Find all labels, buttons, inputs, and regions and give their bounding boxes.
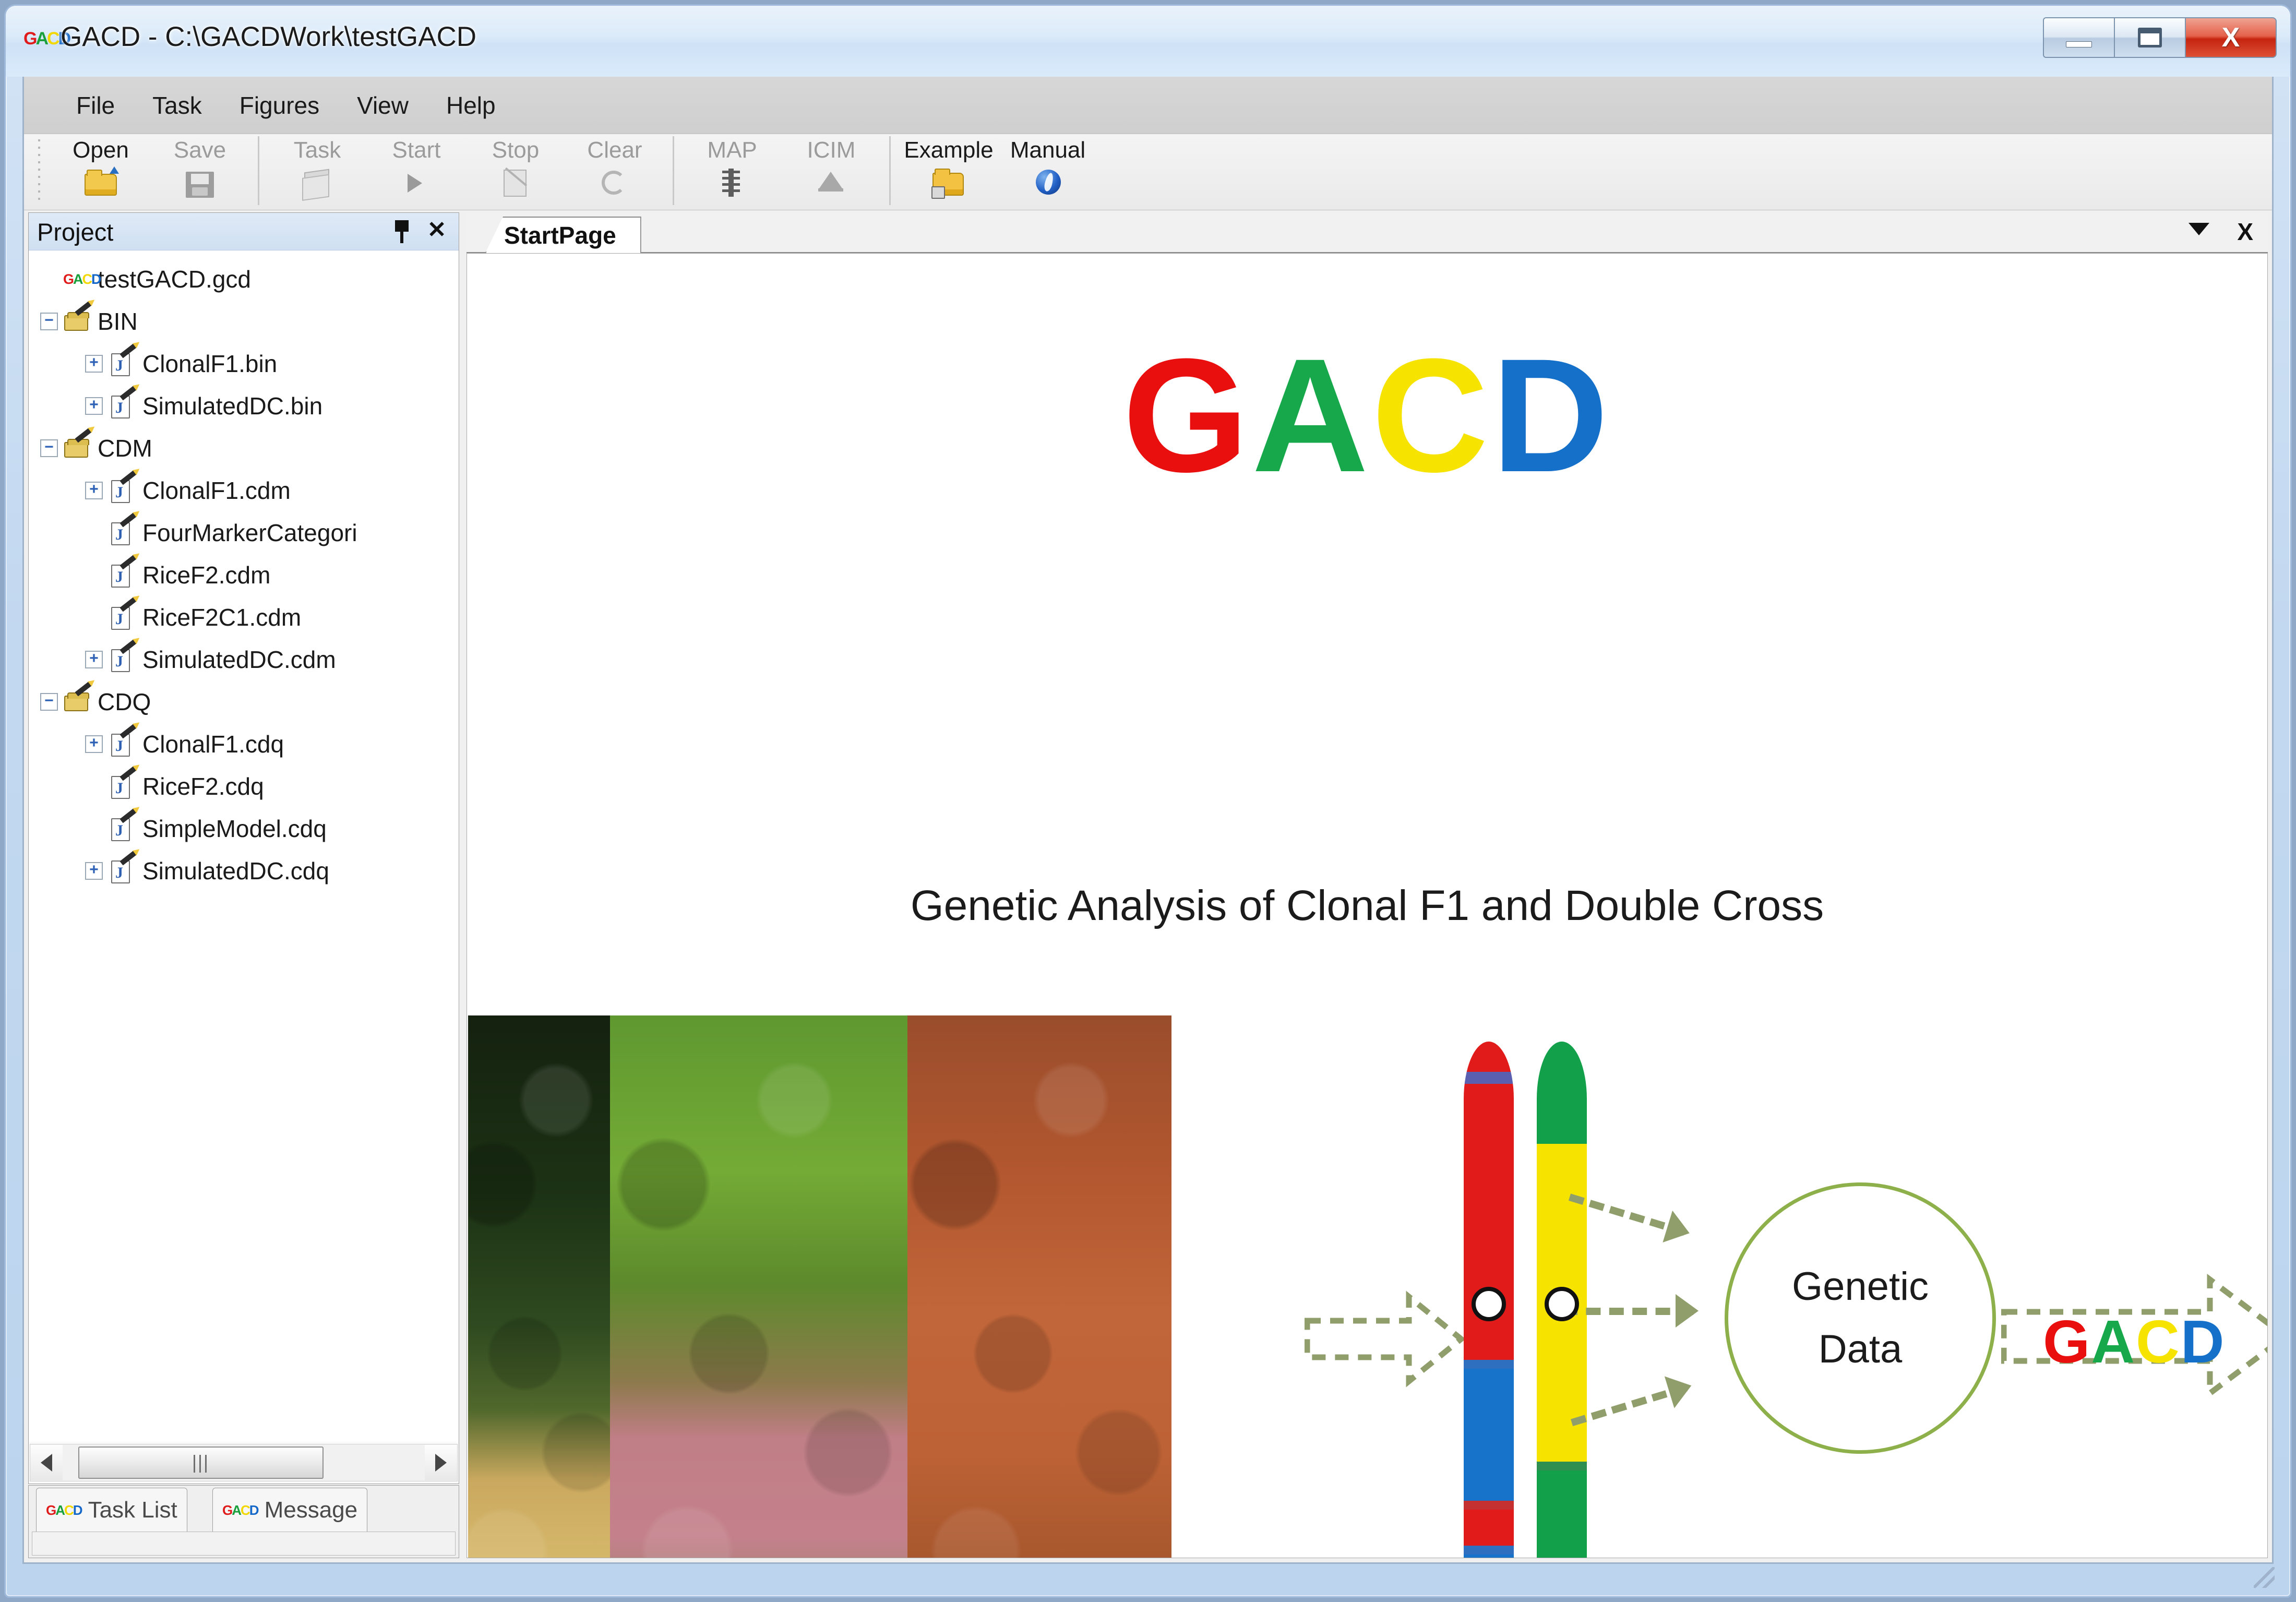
workflow-diagram: Genetic Data GACD xyxy=(1187,1026,2022,1558)
menu-file[interactable]: File xyxy=(57,85,134,126)
tree-item[interactable]: +SimulatedDC.cdq xyxy=(29,850,459,892)
expand-icon[interactable]: + xyxy=(85,862,103,880)
toolbar-task-button[interactable]: Task xyxy=(268,136,367,205)
minimize-icon xyxy=(2066,41,2092,47)
tree-item-label: RiceF2.cdq xyxy=(142,770,264,803)
toolbar-save-button[interactable]: Save xyxy=(150,136,249,205)
toolbar-stop-label: Stop xyxy=(492,136,540,164)
centromere-left-icon xyxy=(1472,1287,1506,1321)
play-arrow-icon xyxy=(397,165,436,199)
toolbar-manual-button[interactable]: Manual xyxy=(998,136,1097,205)
toolbar-task-label: Task xyxy=(294,136,341,164)
bag-pencil-icon xyxy=(63,308,90,335)
window-controls: X xyxy=(2043,17,2277,58)
toolbar-clear-label: Clear xyxy=(587,136,642,164)
toolbar-map-label: MAP xyxy=(707,136,757,164)
window-title: GACD - C:\GACDWork\testGACD xyxy=(61,21,476,53)
tree-item-label: FourMarkerCategori xyxy=(142,517,357,549)
doc-pencil-icon xyxy=(108,350,135,377)
data-arrow-3-icon xyxy=(1571,1384,1685,1419)
toolbar-separator xyxy=(258,136,259,205)
startpage-content: GACD Genetic Analysis of Clonal F1 and D… xyxy=(467,253,2268,1558)
out-letter-g: G xyxy=(2043,1308,2091,1376)
folder-open-icon xyxy=(81,165,120,199)
doc-pencil-icon xyxy=(108,477,135,504)
tree-item[interactable]: +ClonalF1.cdm xyxy=(29,469,459,511)
project-tree[interactable]: GACDtestGACD.gcd−BIN+ClonalF1.bin+Simula… xyxy=(29,250,459,1442)
stop-doc-icon xyxy=(496,165,535,199)
out-letter-a: A xyxy=(2091,1308,2136,1376)
icim-icon xyxy=(812,165,851,199)
logo-letter-g: G xyxy=(1123,325,1252,506)
expand-icon[interactable]: + xyxy=(85,482,103,499)
title-bar: GACD GACD - C:\GACDWork\testGACD X xyxy=(6,6,2290,77)
maximize-button[interactable] xyxy=(2114,17,2185,58)
gacd-output-logo: GACD xyxy=(2043,1308,2226,1376)
logo-letter-c: C xyxy=(1372,325,1492,506)
tree-item[interactable]: +SimulatedDC.cdm xyxy=(29,638,459,680)
expand-icon[interactable]: + xyxy=(85,651,103,668)
pin-icon[interactable] xyxy=(391,219,414,245)
gacd-logo: GACD xyxy=(467,337,2267,494)
maximize-icon xyxy=(2138,28,2162,47)
resize-grip[interactable] xyxy=(2254,1567,2275,1588)
photo-sweet-potato: sweet potato xyxy=(610,1015,907,1558)
doc-pencil-icon xyxy=(108,392,135,420)
toolbar-example-label: Example xyxy=(904,136,993,164)
out-letter-d: D xyxy=(2181,1308,2226,1376)
expand-icon[interactable]: + xyxy=(85,735,103,753)
floppy-disk-icon xyxy=(181,165,219,199)
startpage-subtitle: Genetic Analysis of Clonal F1 and Double… xyxy=(467,880,2267,932)
minimize-button[interactable] xyxy=(2043,17,2114,58)
tree-item[interactable]: −BIN xyxy=(29,300,459,342)
close-button[interactable]: X xyxy=(2185,17,2277,58)
expand-icon[interactable]: + xyxy=(85,397,103,415)
bottom-tab-panel: GACD Task List GACD Message xyxy=(28,1485,459,1558)
tree-item[interactable]: GACDtestGACD.gcd xyxy=(29,258,459,300)
tree-item[interactable]: RiceF2C1.cdm xyxy=(29,596,459,638)
doc-pencil-icon xyxy=(108,646,135,673)
left-arrow-icon[interactable] xyxy=(30,1445,63,1480)
tree-item-label: BIN xyxy=(98,305,138,338)
menu-figures[interactable]: Figures xyxy=(221,85,338,126)
tree-item[interactable]: SimpleModel.cdq xyxy=(29,807,459,850)
help-globe-icon xyxy=(1029,165,1067,199)
project-panel: Project ✕ GACDtestGACD.gcd−BIN+ClonalF1.… xyxy=(28,212,459,1484)
tree-item[interactable]: +SimulatedDC.bin xyxy=(29,385,459,427)
tree-item-label: RiceF2C1.cdm xyxy=(142,601,301,633)
tree-item-label: testGACD.gcd xyxy=(98,263,251,295)
toolbar-separator xyxy=(889,136,891,205)
bottom-tab-content xyxy=(32,1532,456,1556)
gacd-icon: GACD xyxy=(222,1502,258,1518)
doc-pencil-icon xyxy=(108,561,135,589)
doc-pencil-icon xyxy=(108,519,135,546)
close-icon[interactable]: X xyxy=(2237,216,2253,248)
tree-item-label: ClonalF1.bin xyxy=(142,348,277,380)
toolbar-start-button[interactable]: Start xyxy=(367,136,466,205)
example-folder-icon xyxy=(929,165,968,199)
toolbar-map-button[interactable]: MAP xyxy=(683,136,782,205)
photo-strip: Potato sweet potato Cassava xyxy=(468,1015,1171,1558)
tab-task-list[interactable]: GACD Task List xyxy=(36,1488,187,1532)
tree-item[interactable]: RiceF2.cdq xyxy=(29,765,459,807)
toolbar-open-label: Open xyxy=(73,136,129,164)
tree-item-label: ClonalF1.cdm xyxy=(142,474,291,507)
genetic-data-line1: Genetic xyxy=(1792,1256,1929,1318)
photo-cassava: Cassava xyxy=(907,1015,1171,1558)
tree-item[interactable]: RiceF2.cdm xyxy=(29,554,459,596)
client-area: File Task Figures View Help Open Save Ta… xyxy=(22,77,2274,1564)
map-icon xyxy=(713,165,751,199)
toolbar: Open Save Task Start Stop Clear xyxy=(24,134,2272,210)
tree-item-label: SimulatedDC.cdm xyxy=(142,643,336,676)
doc-pencil-icon xyxy=(108,857,135,884)
toolbar-clear-button[interactable]: Clear xyxy=(565,136,664,205)
close-icon: X xyxy=(2222,24,2240,51)
toolbar-icim-label: ICIM xyxy=(807,136,856,164)
tree-item[interactable]: FourMarkerCategori xyxy=(29,511,459,554)
tab-message[interactable]: GACD Message xyxy=(212,1488,367,1532)
doc-pencil-icon xyxy=(108,731,135,758)
menu-help[interactable]: Help xyxy=(427,85,515,126)
collapse-icon[interactable]: − xyxy=(40,693,58,711)
collapse-icon[interactable]: − xyxy=(40,439,58,457)
gacd-icon: GACD xyxy=(46,1502,82,1518)
tree-item[interactable]: +ClonalF1.cdq xyxy=(29,723,459,765)
toolbar-save-label: Save xyxy=(174,136,226,164)
tab-task-list-label: Task List xyxy=(88,1496,177,1525)
tab-message-label: Message xyxy=(265,1496,358,1525)
tree-item-label: SimpleModel.cdq xyxy=(142,812,327,845)
menu-bar: File Task Figures View Help xyxy=(24,77,2272,134)
logo-letter-a: A xyxy=(1252,325,1372,506)
chevron-down-icon[interactable] xyxy=(2189,223,2209,235)
project-panel-title: Project xyxy=(37,217,113,247)
toolbar-manual-label: Manual xyxy=(1010,136,1085,164)
logo-letter-d: D xyxy=(1492,325,1612,506)
expand-icon[interactable]: + xyxy=(85,355,103,373)
tab-startpage-label: StartPage xyxy=(504,219,616,252)
toolbar-separator xyxy=(673,136,674,205)
refresh-icon xyxy=(595,165,634,199)
out-letter-c: C xyxy=(2136,1308,2181,1376)
hscrollbar-thumb[interactable] xyxy=(78,1446,324,1479)
tree-item-label: SimulatedDC.bin xyxy=(142,390,322,422)
toolbar-open-button[interactable]: Open xyxy=(51,136,150,205)
toolbar-grip[interactable] xyxy=(35,136,44,205)
project-tree-hscrollbar[interactable] xyxy=(30,1444,458,1481)
toolbar-example-button[interactable]: Example xyxy=(899,136,998,205)
collapse-icon[interactable]: − xyxy=(40,313,58,330)
genetic-data-node: Genetic Data xyxy=(1725,1182,1996,1454)
menu-view[interactable]: View xyxy=(338,85,427,126)
close-icon[interactable]: ✕ xyxy=(424,216,449,244)
main-split: Project ✕ GACDtestGACD.gcd−BIN+ClonalF1.… xyxy=(24,210,2272,1562)
data-arrow-1-icon xyxy=(1571,1193,1685,1228)
tree-item[interactable]: +ClonalF1.bin xyxy=(29,342,459,385)
centromere-right-icon xyxy=(1545,1287,1579,1321)
photo-potato: Potato xyxy=(468,1015,610,1558)
genetic-data-line2: Data xyxy=(1819,1318,1903,1381)
tab-startpage[interactable]: StartPage xyxy=(485,217,641,253)
input-arrow-icon xyxy=(1305,1289,1477,1389)
doc-pencil-icon xyxy=(108,815,135,842)
toolbar-stop-button[interactable]: Stop xyxy=(466,136,565,205)
document-area: StartPage X GACD Genetic Analysis of Clo… xyxy=(467,212,2268,1558)
tree-item-label: SimulatedDC.cdq xyxy=(142,855,329,887)
tree-item-label: CDM xyxy=(98,432,152,464)
toolbar-icim-button[interactable]: ICIM xyxy=(782,136,881,205)
doc-pencil-icon xyxy=(108,773,135,800)
bag-pencil-icon xyxy=(63,435,90,462)
application-window: GACD GACD - C:\GACDWork\testGACD X File … xyxy=(4,4,2292,1598)
project-panel-header: Project ✕ xyxy=(29,213,459,250)
tree-item-label: RiceF2.cdm xyxy=(142,559,270,591)
bag-pencil-icon xyxy=(63,688,90,715)
menu-task[interactable]: Task xyxy=(134,85,221,126)
gacd-file-icon: GACD xyxy=(63,266,90,293)
stack-icon xyxy=(298,165,337,199)
right-arrow-icon[interactable] xyxy=(425,1445,457,1480)
tree-item-label: CDQ xyxy=(98,686,151,718)
app-logo-icon: GACD xyxy=(23,28,54,50)
document-tab-strip: StartPage X xyxy=(467,212,2268,253)
tree-item[interactable]: −CDM xyxy=(29,427,459,469)
tree-item-label: ClonalF1.cdq xyxy=(142,728,284,760)
tree-item[interactable]: −CDQ xyxy=(29,680,459,723)
doc-pencil-icon xyxy=(108,604,135,631)
toolbar-start-label: Start xyxy=(392,136,441,164)
